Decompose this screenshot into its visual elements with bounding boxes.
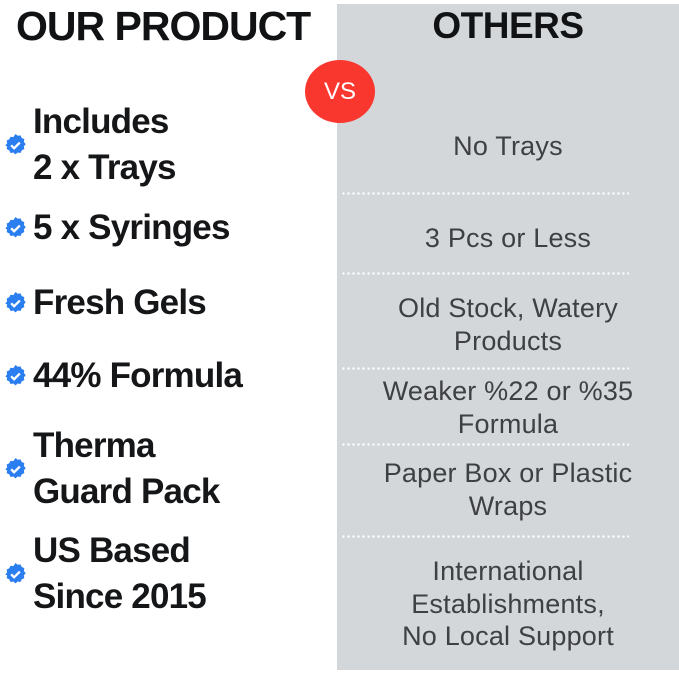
- list-item-label: 5 x Syringes: [33, 205, 332, 251]
- verified-check-icon: [0, 457, 33, 482]
- list-item: 5 x Syringes: [0, 201, 332, 255]
- list-item-label: Old Stock, Watery Products: [348, 292, 668, 358]
- row-separator: [341, 192, 629, 195]
- list-item-label: No Trays: [348, 130, 668, 163]
- our-product-feature-list: Includes 2 x Trays 5 x Syringes Fresh Ge…: [0, 96, 332, 672]
- list-item-label: Therma Guard Pack: [33, 423, 332, 515]
- vs-badge: VS: [305, 60, 375, 123]
- list-item-label: Weaker %22 or %35 Formula: [348, 375, 668, 441]
- row-separator: [341, 367, 629, 370]
- list-item: 44% Formula: [0, 349, 332, 403]
- verified-check-icon: [0, 133, 33, 158]
- verified-check-icon: [0, 562, 33, 587]
- verified-check-icon: [0, 364, 33, 389]
- comparison-infographic: OUR PRODUCT OTHERS VS Includes 2 x Trays: [0, 0, 679, 678]
- others-drawback-list: No Trays 3 Pcs or Less Old Stock, Watery…: [337, 4, 679, 670]
- list-item-label: Includes 2 x Trays: [33, 99, 332, 191]
- verified-check-icon: [0, 216, 33, 241]
- list-item: Includes 2 x Trays: [0, 96, 332, 194]
- list-item: Old Stock, Watery Products: [337, 282, 679, 367]
- row-separator: [341, 272, 629, 275]
- list-item: Weaker %22 or %35 Formula: [337, 372, 679, 444]
- list-item-label: Fresh Gels: [33, 280, 332, 326]
- list-item: Therma Guard Pack: [0, 420, 332, 518]
- vs-badge-label: VS: [324, 78, 356, 106]
- list-item: International Establishments, No Local S…: [337, 544, 679, 664]
- list-item: US Based Since 2015: [0, 525, 332, 623]
- list-item: Fresh Gels: [0, 276, 332, 330]
- list-item-label: Paper Box or Plastic Wraps: [348, 457, 668, 523]
- list-item-label: 3 Pcs or Less: [348, 222, 668, 255]
- list-item-label: International Establishments, No Local S…: [348, 555, 668, 654]
- list-item: 3 Pcs or Less: [337, 204, 679, 272]
- row-separator: [341, 535, 629, 538]
- row-separator: [341, 443, 629, 446]
- list-item-label: 44% Formula: [33, 353, 332, 399]
- list-item-label: US Based Since 2015: [33, 528, 332, 620]
- list-item: No Trays: [337, 109, 679, 184]
- our-product-header: OUR PRODUCT: [16, 6, 310, 47]
- list-item: Paper Box or Plastic Wraps: [337, 448, 679, 532]
- verified-check-icon: [0, 291, 33, 316]
